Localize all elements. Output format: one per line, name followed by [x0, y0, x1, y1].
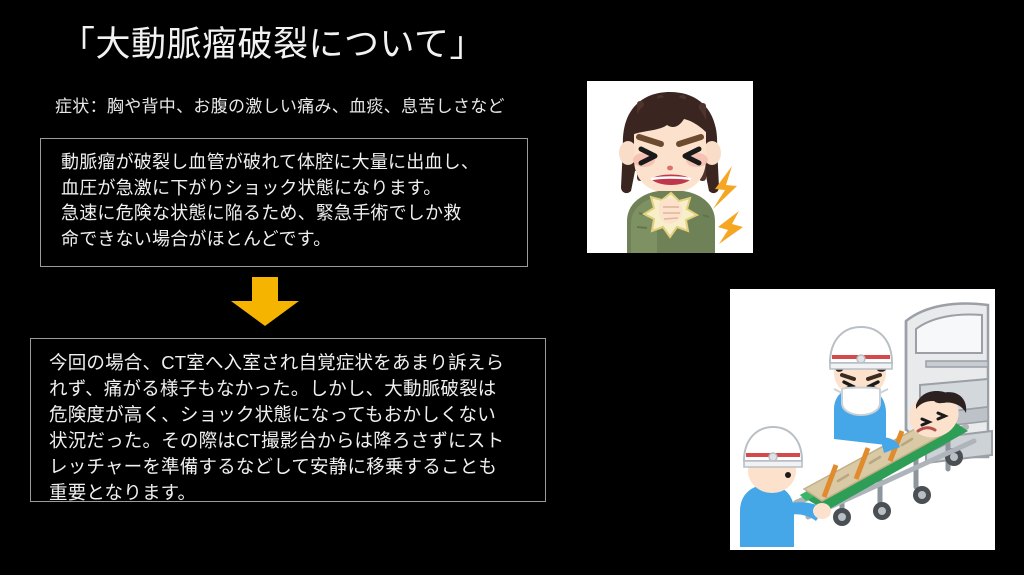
ambulance-stretcher-illustration: [730, 289, 995, 550]
page-title: 「大動脈瘤破裂について」: [60, 23, 485, 67]
case-line: 重要となります。: [49, 480, 545, 506]
down-arrow-icon: [231, 277, 299, 326]
description-line: 血圧が急激に下がりショック状態になります。: [61, 176, 527, 202]
presentation-slide: 「大動脈瘤破裂について」 症状：胸や背中、お腹の激しい痛み、血痰、息苦しさなど …: [0, 0, 1024, 575]
description-textbox: 動脈瘤が破裂し血管が破れて体腔に大量に出血し、 血圧が急激に下がりショック状態に…: [40, 138, 528, 267]
symptoms-text: 症状：胸や背中、お腹の激しい痛み、血痰、息苦しさなど: [55, 95, 505, 119]
description-line: 命できない場合がほとんどです。: [61, 227, 527, 253]
case-line: 状況だった。その際はCT撮影台からは降ろさずにスト: [49, 428, 545, 454]
case-textbox: 今回の場合、CT室へ入室され自覚症状をあまり訴えら れず、痛がる様子もなかった。…: [30, 338, 546, 502]
case-line: レッチャーを準備するなどして安静に移乗することも: [49, 454, 545, 480]
case-line: 危険度が高く、ショック状態になってもおかしくない: [49, 402, 545, 428]
chest-pain-woman-illustration: [587, 81, 753, 253]
case-line: れず、痛がる様子もなかった。しかし、大動脈破裂は: [49, 376, 545, 402]
description-line: 急速に危険な状態に陥るため、緊急手術でしか救: [61, 201, 527, 227]
description-line: 動脈瘤が破裂し血管が破れて体腔に大量に出血し、: [61, 150, 527, 176]
case-line: 今回の場合、CT室へ入室され自覚症状をあまり訴えら: [49, 350, 545, 376]
